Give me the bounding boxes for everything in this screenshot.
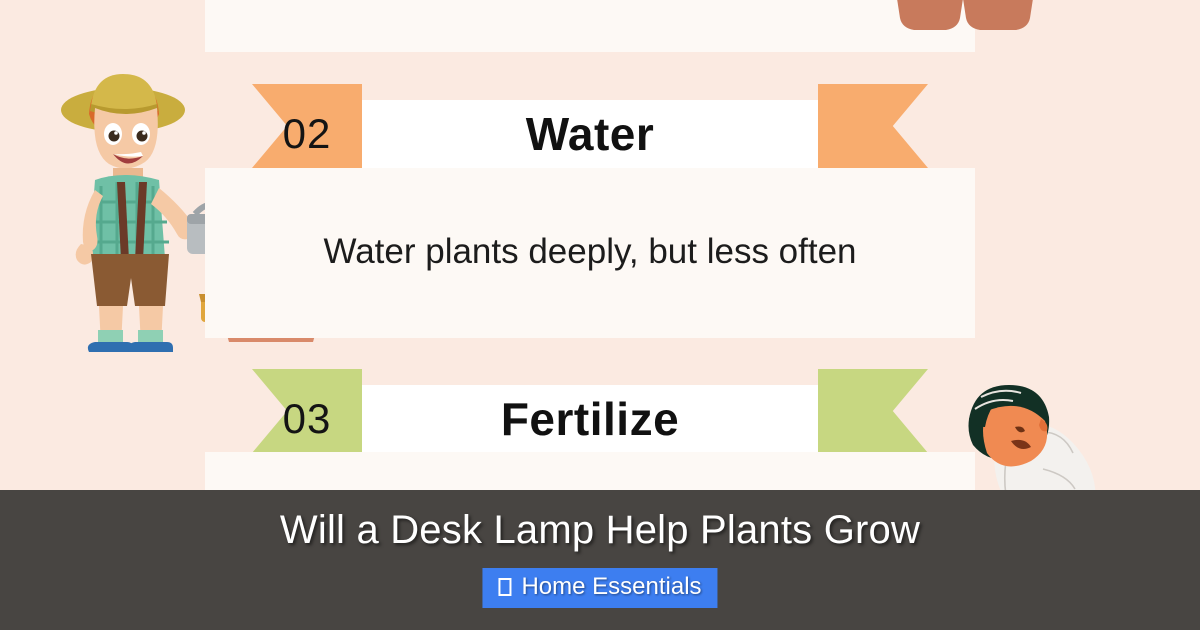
step-title-fertilize: Fertilize: [345, 385, 835, 453]
missing-glyph-box-icon: [498, 578, 511, 596]
step-description-water: Water plants deeply, but less often: [205, 232, 975, 272]
step-ribbon-water: 02 Water: [205, 100, 975, 168]
overlay-badge-label: Home Essentials: [521, 573, 701, 601]
step-ribbon-fertilize: 03 Fertilize: [205, 385, 975, 453]
overlay-badge[interactable]: Home Essentials: [482, 568, 717, 608]
poster-canvas: 02 Water Water plants deeply, but less o…: [0, 0, 1200, 630]
overlay-title: Will a Desk Lamp Help Plants Grow: [0, 508, 1200, 553]
content-card-top: [205, 0, 975, 52]
potted-succulent-plants-illustration: [880, 0, 1050, 55]
step-title-water: Water: [345, 100, 835, 168]
